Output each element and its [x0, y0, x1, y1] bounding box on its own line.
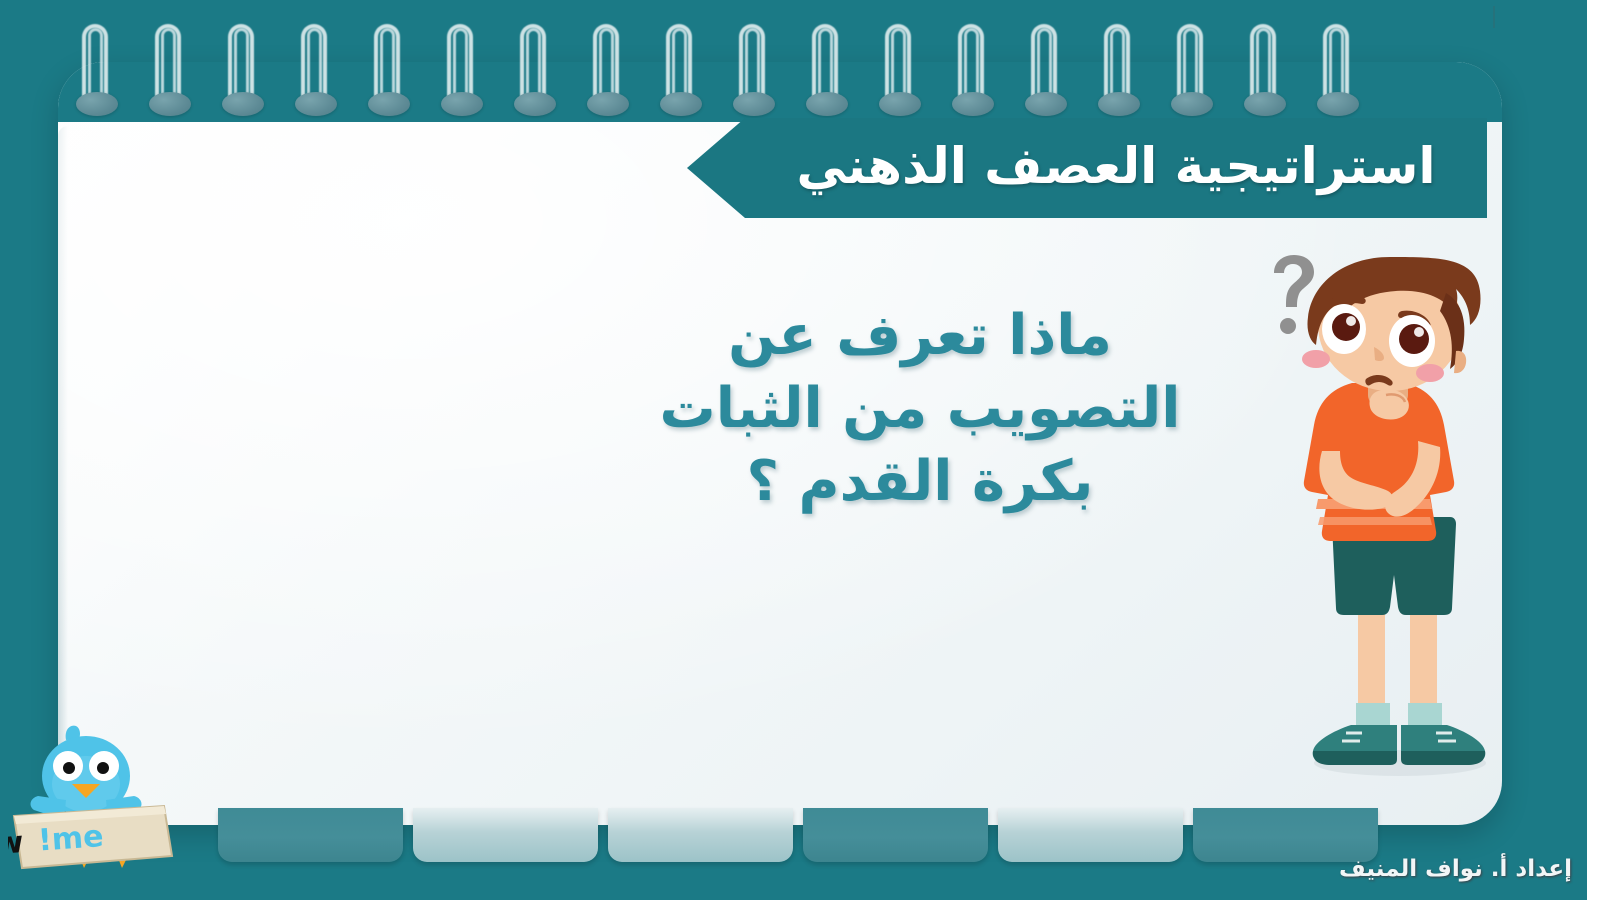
boy-left-eye: [1322, 304, 1366, 354]
spiral-bead: [1025, 92, 1067, 116]
spiral-bead: [514, 92, 556, 116]
question-block: ماذا تعرف عن التصويب من الثبات بكرة القد…: [570, 300, 1270, 518]
boy-left-shoe: [1313, 725, 1397, 765]
spiral-ring: [1246, 24, 1280, 134]
boy-right-eye: [1389, 315, 1435, 367]
spiral-ring: [1027, 24, 1061, 134]
bottom-tab-3[interactable]: [803, 808, 988, 862]
spiral-bead: [149, 92, 191, 116]
spiral-ring: [151, 24, 185, 134]
spiral-bead: [1317, 92, 1359, 116]
spiral-ring: [662, 24, 696, 134]
boy-right-shoe: [1401, 725, 1485, 765]
boy-right-cheek: [1416, 364, 1444, 382]
spiral-bead: [660, 92, 702, 116]
spiral-bead: [1098, 92, 1140, 116]
spiral-ring: [78, 24, 112, 134]
follow-me-badge[interactable]: Follow me!: [8, 700, 218, 885]
title-banner: استراتيجية العصف الذهني: [745, 118, 1487, 218]
question-line-2: التصويب من الثبات: [570, 373, 1270, 446]
slide-canvas: استراتيجية العصف الذهني ماذا تعرف عن الت…: [0, 0, 1600, 900]
bottom-tabs: [218, 808, 1378, 862]
spiral-bead: [952, 92, 994, 116]
spiral-ring: [589, 24, 623, 134]
author-credit: إعداد أ. نواف المنيف: [1339, 856, 1572, 882]
spiral-ring: [735, 24, 769, 134]
right-white-strip: [1587, 0, 1600, 900]
spiral-bead: [1244, 92, 1286, 116]
boy-left-cheek: [1302, 350, 1330, 368]
spiral-ring: [808, 24, 842, 134]
spiral-ring: [1100, 24, 1134, 134]
spiral-bead: [222, 92, 264, 116]
bottom-tab-1[interactable]: [1193, 808, 1378, 862]
boy-ear: [1454, 351, 1466, 373]
bottom-tab-5[interactable]: [413, 808, 598, 862]
bottom-tab-4[interactable]: [608, 808, 793, 862]
spiral-ring: [370, 24, 404, 134]
bottom-tab-2[interactable]: [998, 808, 1183, 862]
question-line-3: بكرة القدم ؟: [570, 446, 1270, 519]
spiral-bead: [879, 92, 921, 116]
spiral-bead: [76, 92, 118, 116]
spiral-ring: [297, 24, 331, 134]
spiral-ring: [224, 24, 258, 134]
spiral-ring: [516, 24, 550, 134]
spiral-bead: [806, 92, 848, 116]
spiral-bead: [733, 92, 775, 116]
spiral-bead: [295, 92, 337, 116]
question-line-1: ماذا تعرف عن: [570, 300, 1270, 373]
spiral-bead: [587, 92, 629, 116]
spiral-ring: [954, 24, 988, 134]
follow-word-two: me!: [37, 819, 105, 858]
bottom-tab-6[interactable]: [218, 808, 403, 862]
spiral-ring: [443, 24, 477, 134]
twitter-bird-icon: [31, 726, 142, 820]
spiral-ring: [1319, 24, 1353, 134]
title-banner-text: استراتيجية العصف الذهني: [796, 141, 1435, 195]
spiral-bead: [1171, 92, 1213, 116]
follow-sign-board: Follow me!: [8, 806, 172, 868]
spiral-bead: [441, 92, 483, 116]
spiral-ring: [881, 24, 915, 134]
spiral-bead: [368, 92, 410, 116]
spiral-ring: [1173, 24, 1207, 134]
thinking-boy-illustration: [1250, 255, 1520, 785]
boy-shirt-stripe-2: [1318, 517, 1432, 525]
